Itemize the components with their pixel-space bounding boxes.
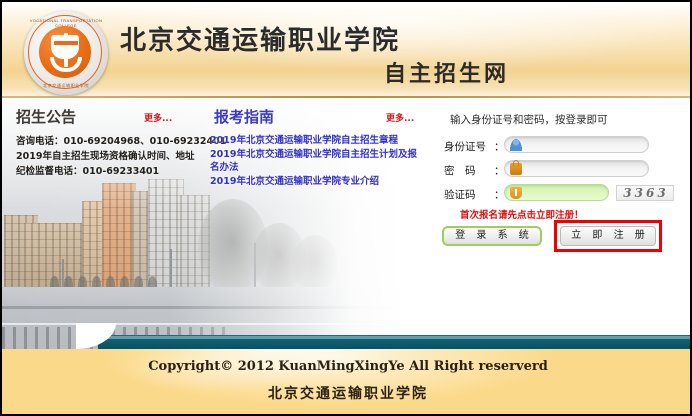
password-colon: ：: [494, 163, 505, 178]
announcements-more-link[interactable]: 更多...: [144, 111, 172, 124]
register-button[interactable]: 立 即 注 册: [560, 226, 656, 246]
announcement-item: 纪检监督电话：010-69233401: [16, 164, 216, 179]
register-notice: 首次报名请先点击立即注册！: [460, 207, 584, 221]
announcement-item: 2019年自主招生现场资格确认时间、地址: [16, 149, 216, 164]
site-title: 北京交通运输职业学院: [120, 20, 400, 57]
user-icon: [510, 139, 522, 151]
announcements-list: 咨询电话：010-69204968、010-69232401 2019年自主招生…: [16, 134, 216, 179]
site-subtitle: 自主招生网: [384, 56, 509, 88]
password-input[interactable]: [504, 160, 649, 177]
captcha-image[interactable]: 3363: [616, 185, 674, 201]
main-content: 招生公告 更多... 咨询电话：010-69204968、010-6923240…: [2, 98, 692, 349]
footer-school-name: 北京交通运输职业学院: [2, 383, 692, 403]
lock-icon: [510, 163, 522, 175]
id-number-input[interactable]: [504, 136, 649, 153]
crest-horizontal-bar: [54, 41, 78, 45]
shield-icon: [510, 187, 522, 199]
login-hint-text: 输入身份证号和密码，按登录即可: [450, 112, 608, 127]
captcha-colon: ：: [494, 187, 505, 202]
copyright-text: Copyright© 2012 KuanMingXingYe All Right…: [2, 359, 692, 374]
guide-title: 报考指南: [214, 106, 274, 127]
page-root: VOCATIONAL TRANSPORTATION COLLEGE 北京交通运输…: [0, 0, 692, 416]
captcha-code: 3363: [617, 186, 674, 200]
guide-link[interactable]: 2019年北京交通运输职业学院专业介绍: [210, 175, 425, 189]
captcha-input[interactable]: [504, 184, 609, 201]
site-footer: Copyright© 2012 KuanMingXingYe All Right…: [2, 349, 692, 414]
login-button[interactable]: 登 录 系 统: [442, 226, 542, 246]
announcement-item: 咨询电话：010-69204968、010-69232401: [16, 134, 216, 149]
guide-more-link[interactable]: 更多...: [386, 111, 414, 124]
guide-link-list: 2019年北京交通运输职业学院自主招生章程 2019年北京交通运输职业学院自主招…: [210, 134, 425, 188]
guide-link[interactable]: 2019年北京交通运输职业学院自主招生章程: [210, 134, 425, 148]
university-crest-icon: VOCATIONAL TRANSPORTATION COLLEGE 北京交通运输…: [24, 11, 108, 95]
guide-header: 报考指南 更多...: [214, 106, 429, 132]
site-header: VOCATIONAL TRANSPORTATION COLLEGE 北京交通运输…: [2, 2, 692, 98]
id-number-colon: ：: [494, 139, 505, 154]
announcements-header: 招生公告 更多...: [16, 106, 202, 132]
crest-ring-text-bottom: 北京交通运输职业学院: [24, 83, 108, 89]
guide-link[interactable]: 2019年北京交通运输职业学院自主招生计划及报名办法: [210, 148, 425, 175]
teal-accent-highlight: [98, 336, 692, 339]
announcements-title: 招生公告: [16, 106, 76, 127]
